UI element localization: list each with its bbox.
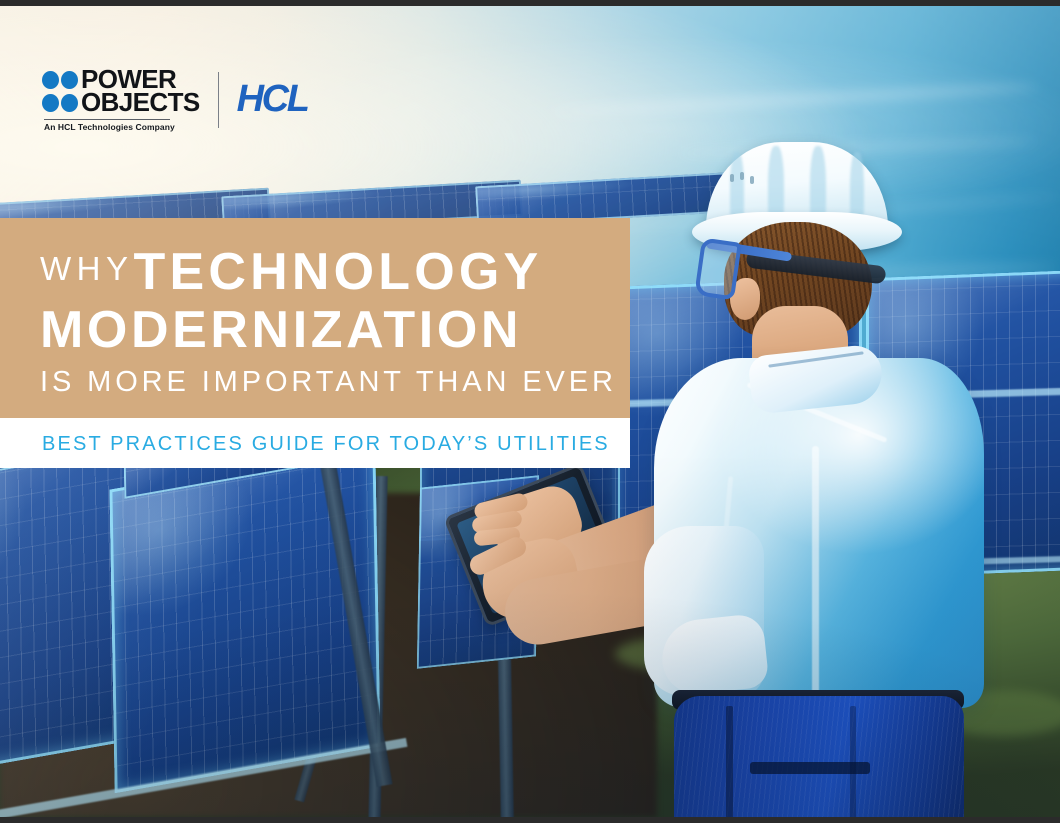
hard-hat-vent [750,176,754,184]
title-line-1: WHYTECHNOLOGY [40,246,612,298]
hard-hat-vent [730,174,734,182]
logo-dots-top [42,71,78,89]
title-line-2: MODERNIZATION [40,304,612,356]
title-word-why: WHY [40,250,134,287]
worker-figure [600,6,1060,817]
powerobjects-logo: POWER OBJECTS An HCL Technologies Compan… [42,68,200,132]
trouser-pleat [726,706,733,817]
hcl-wordmark: HCL [237,78,308,121]
powerobjects-word-objects: OBJECTS [81,91,200,115]
logo-dot [61,71,78,89]
shirt-center-pleat [812,446,819,696]
back-pocket [750,762,870,774]
safety-glasses-lens [694,237,742,300]
page-top-border [0,0,1060,6]
logo-dot [42,71,59,89]
hard-hat-vent [740,172,744,180]
trousers [674,696,964,817]
title-word-technology: TECHNOLOGY [134,243,543,301]
powerobjects-bottom-row: OBJECTS [42,91,200,115]
cover-subtitle: BEST PRACTICES GUIDE FOR TODAY’S UTILITI… [42,433,610,456]
logo-vertical-divider [218,72,219,128]
logo-dot [61,94,78,112]
logo-dot [42,94,59,112]
logo-dots-bottom [42,94,78,112]
logo-lockup: POWER OBJECTS An HCL Technologies Compan… [42,68,308,132]
ebook-cover-page: POWER OBJECTS An HCL Technologies Compan… [0,0,1060,823]
page-bottom-border [0,817,1060,823]
powerobjects-tagline: An HCL Technologies Company [42,122,200,132]
title-line-3: IS MORE IMPORTANT THAN EVER [40,368,612,397]
cover-title-block: WHYTECHNOLOGY MODERNIZATION IS MORE IMPO… [40,246,612,397]
logo-divider-rule [44,119,170,120]
